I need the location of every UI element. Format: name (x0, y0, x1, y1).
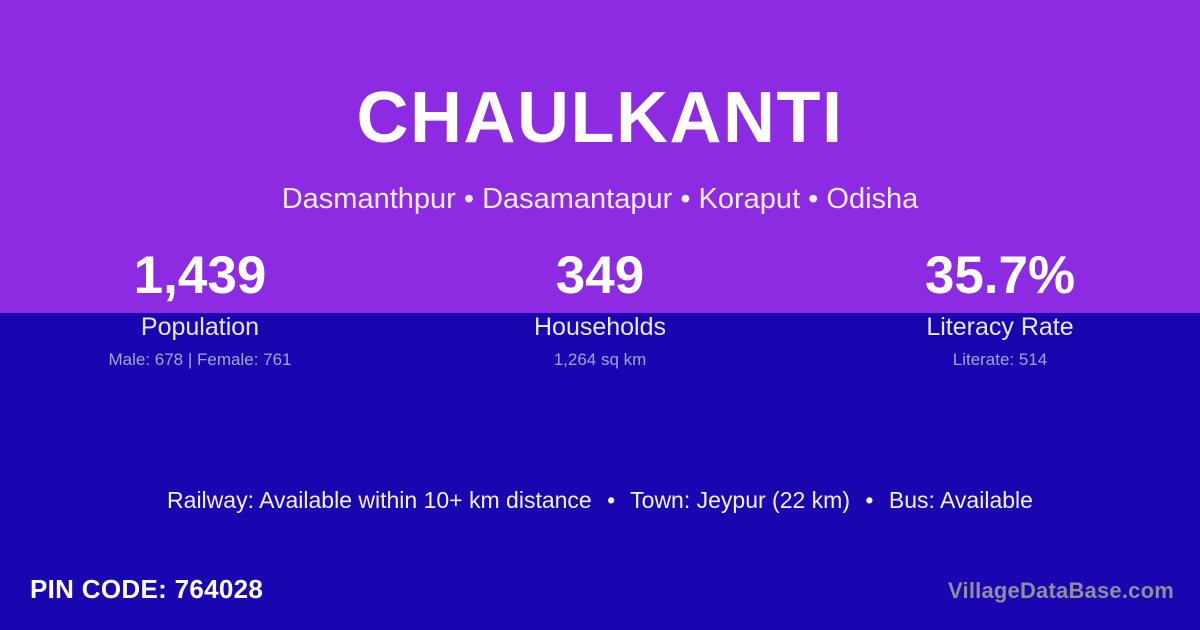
stat-subtext: 1,264 sq km (400, 350, 800, 370)
stat-subtext: Literate: 514 (800, 350, 1200, 370)
infra-separator-icon: • (598, 485, 624, 515)
stat-population: 1,439 Population Male: 678 | Female: 761 (0, 246, 400, 386)
village-info-card: CHAULKANTI Dasmanthpur • Dasamantapur • … (0, 0, 1200, 630)
stat-label: Literacy Rate (800, 313, 1200, 341)
infra-railway: Railway: Available within 10+ km distanc… (167, 487, 592, 513)
site-branding: VillageDataBase.com (948, 576, 1174, 606)
stat-subtext: Male: 678 | Female: 761 (0, 350, 400, 370)
stat-label: Households (400, 313, 800, 341)
stat-literacy-rate: 35.7% Literacy Rate Literate: 514 (800, 246, 1200, 386)
stat-households: 349 Households 1,264 sq km (400, 246, 800, 386)
footer: PIN CODE: 764028 VillageDataBase.com (0, 572, 1200, 612)
stats-row: 1,439 Population Male: 678 | Female: 761… (0, 246, 1200, 386)
stat-value: 1,439 (0, 246, 400, 306)
stat-label: Population (0, 313, 400, 341)
stat-value: 35.7% (800, 246, 1200, 306)
stat-value: 349 (400, 246, 800, 306)
page-title: CHAULKANTI (0, 82, 1200, 154)
infrastructure-line: Railway: Available within 10+ km distanc… (0, 485, 1200, 515)
breadcrumb: Dasmanthpur • Dasamantapur • Koraput • O… (0, 182, 1200, 217)
infra-separator-icon: • (856, 485, 882, 515)
infra-town: Town: Jeypur (22 km) (630, 487, 850, 513)
pin-code: PIN CODE: 764028 (30, 572, 263, 606)
infra-bus: Bus: Available (889, 487, 1033, 513)
